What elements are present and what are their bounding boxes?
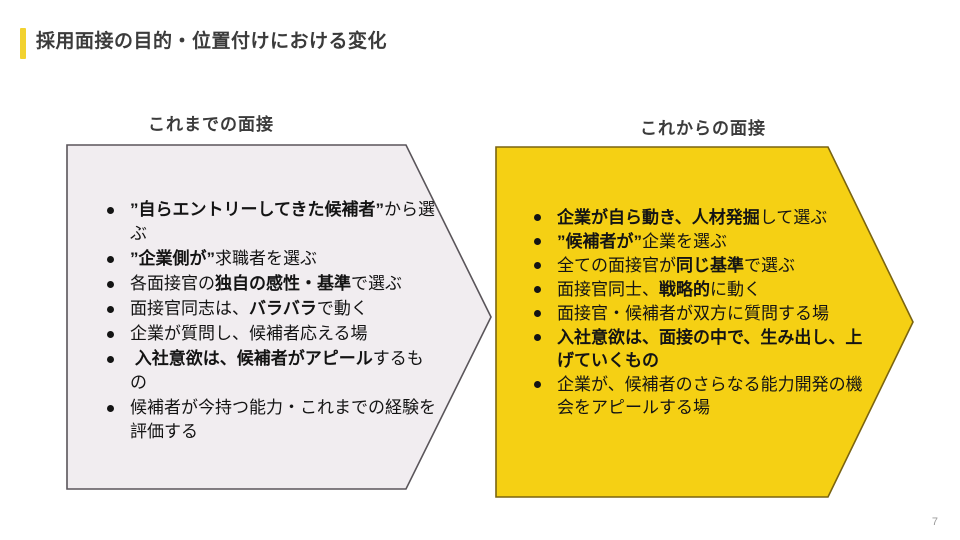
bullet-dot-icon xyxy=(534,214,541,221)
bullet-dot-icon xyxy=(107,256,114,263)
list-item: ”自らエントリーしてきた候補者”から選ぶ xyxy=(88,198,440,246)
column-heading-before: これまでの面接 xyxy=(148,110,274,135)
bullet-text: 面接官・候補者が双方に質問する場 xyxy=(557,302,867,325)
bullet-dot-icon xyxy=(107,306,114,313)
list-item: 入社意欲は、候補者がアピールするもの xyxy=(88,347,440,395)
list-item: ”企業側が”求職者を選ぶ xyxy=(88,247,440,271)
bullet-dot-icon xyxy=(534,238,541,245)
bullet-text: 全ての面接官が同じ基準で選ぶ xyxy=(557,254,867,277)
list-item: ”候補者が”企業を選ぶ xyxy=(515,230,867,253)
bullet-dot-icon xyxy=(534,334,541,341)
bullet-list-before: ”自らエントリーしてきた候補者”から選ぶ ”企業側が”求職者を選ぶ 各面接官の独… xyxy=(88,198,440,445)
list-item: 面接官同志は、バラバラで動く xyxy=(88,297,440,321)
bullet-text: 各面接官の独自の感性・基準で選ぶ xyxy=(130,272,440,296)
slide-title-bar: 採用面接の目的・位置付けにおける変化 xyxy=(0,20,960,66)
bullet-dot-icon xyxy=(107,405,114,412)
bullet-dot-icon xyxy=(107,356,114,363)
title-accent-bar xyxy=(20,28,26,59)
bullet-dot-icon xyxy=(534,286,541,293)
list-item: 各面接官の独自の感性・基準で選ぶ xyxy=(88,272,440,296)
list-item: 面接官・候補者が双方に質問する場 xyxy=(515,302,867,325)
bullet-list-after: 企業が自ら動き、人材発掘して選ぶ ”候補者が”企業を選ぶ 全ての面接官が同じ基準… xyxy=(515,206,867,420)
list-item: 面接官同士、戦略的に動く xyxy=(515,278,867,301)
list-item: 候補者が今持つ能力・これまでの経験を評価する xyxy=(88,396,440,444)
panel-before-interview: ”自らエントリーしてきた候補者”から選ぶ ”企業側が”求職者を選ぶ 各面接官の独… xyxy=(66,144,492,490)
list-item: 企業が自ら動き、人材発掘して選ぶ xyxy=(515,206,867,229)
bullet-text: 候補者が今持つ能力・これまでの経験を評価する xyxy=(130,396,440,444)
bullet-dot-icon xyxy=(107,331,114,338)
bullet-dot-icon xyxy=(107,207,114,214)
bullet-text: 面接官同士、戦略的に動く xyxy=(557,278,867,301)
panel-after-interview: 企業が自ら動き、人材発掘して選ぶ ”候補者が”企業を選ぶ 全ての面接官が同じ基準… xyxy=(495,146,915,498)
list-item: 入社意欲は、面接の中で、生み出し、上げていくもの xyxy=(515,326,867,372)
bullet-text: 面接官同志は、バラバラで動く xyxy=(130,297,440,321)
list-item: 企業が、候補者のさらなる能力開発の機会をアピールする場 xyxy=(515,373,867,419)
bullet-text: 企業が、候補者のさらなる能力開発の機会をアピールする場 xyxy=(557,373,867,419)
bullet-text: ”自らエントリーしてきた候補者”から選ぶ xyxy=(130,198,440,246)
bullet-dot-icon xyxy=(534,310,541,317)
bullet-text: 入社意欲は、面接の中で、生み出し、上げていくもの xyxy=(557,326,867,372)
list-item: 企業が質問し、候補者応える場 xyxy=(88,322,440,346)
bullet-dot-icon xyxy=(107,281,114,288)
column-heading-after: これからの面接 xyxy=(640,114,766,139)
list-item: 全ての面接官が同じ基準で選ぶ xyxy=(515,254,867,277)
bullet-text: 入社意欲は、候補者がアピールするもの xyxy=(130,347,440,395)
page-number: 7 xyxy=(932,516,938,528)
bullet-dot-icon xyxy=(534,381,541,388)
bullet-text: 企業が自ら動き、人材発掘して選ぶ xyxy=(557,206,867,229)
bullet-text: ”候補者が”企業を選ぶ xyxy=(557,230,867,253)
bullet-dot-icon xyxy=(534,262,541,269)
bullet-text: 企業が質問し、候補者応える場 xyxy=(130,322,440,346)
page-title: 採用面接の目的・位置付けにおける変化 xyxy=(36,27,387,57)
bullet-text: ”企業側が”求職者を選ぶ xyxy=(130,247,440,271)
